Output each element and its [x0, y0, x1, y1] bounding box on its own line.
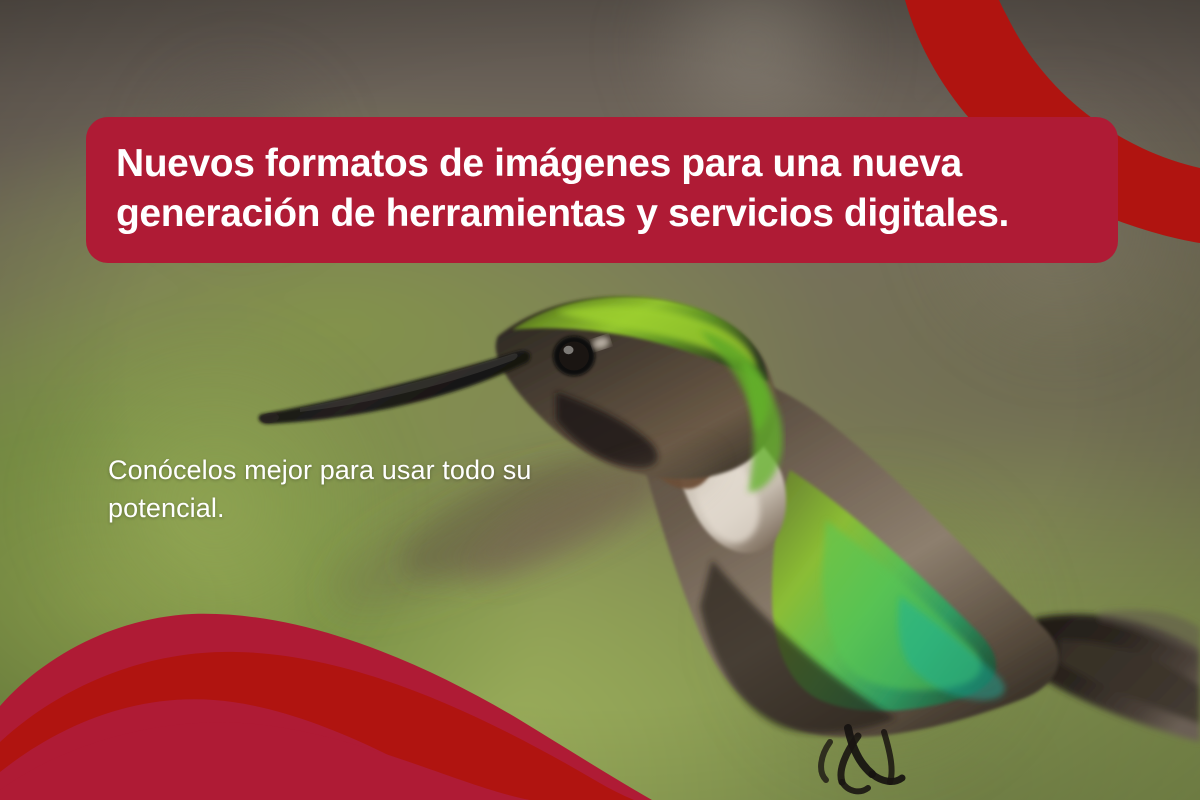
eye-highlight [564, 346, 574, 354]
bird-feet [821, 728, 902, 791]
subtitle-block: Conócelos mejor para usar todo su potenc… [108, 451, 578, 528]
poster-canvas: Nuevos formatos de imágenes para una nue… [0, 0, 1200, 800]
headline-banner: Nuevos formatos de imágenes para una nue… [86, 117, 1118, 263]
bird-bill [259, 351, 531, 424]
subtitle-text: Conócelos mejor para usar todo su potenc… [108, 451, 578, 528]
headline-text: Nuevos formatos de imágenes para una nue… [116, 139, 1088, 239]
